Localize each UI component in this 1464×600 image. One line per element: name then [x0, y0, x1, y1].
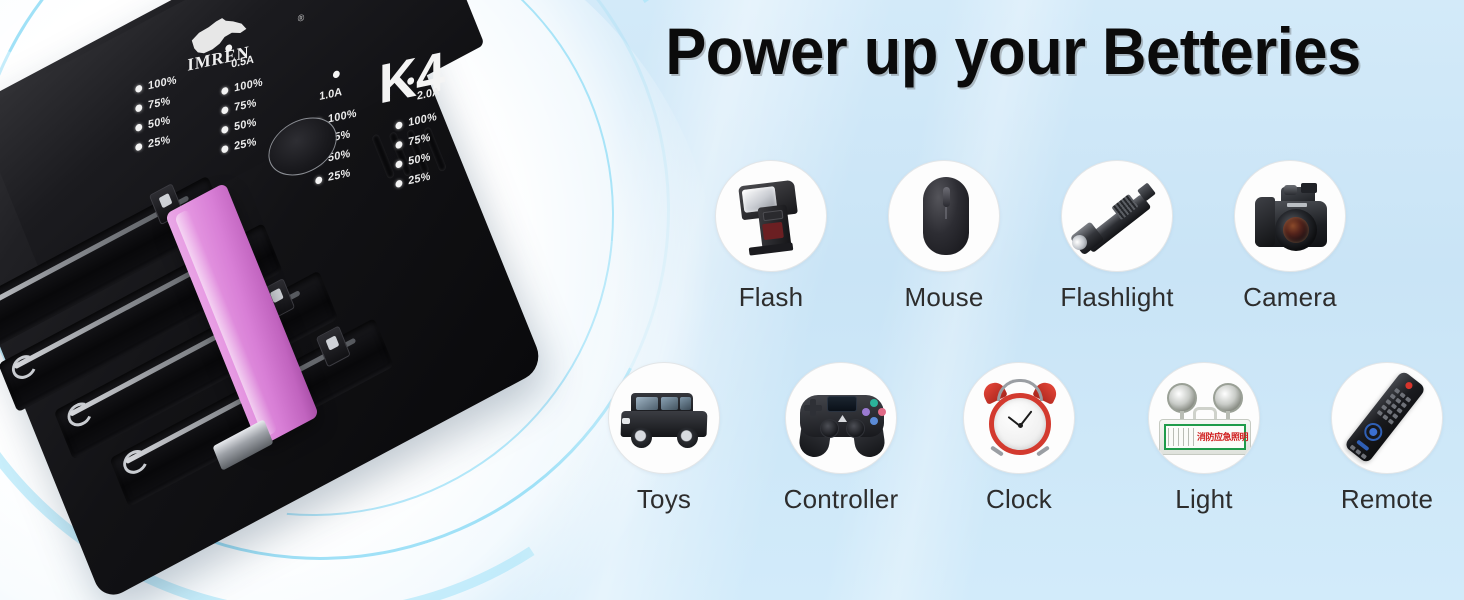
device-label: Remote	[1321, 484, 1453, 515]
device-label: Clock	[953, 484, 1085, 515]
device-label: Flashlight	[1051, 282, 1183, 313]
led-label: 50%	[234, 116, 256, 133]
led-row: 25%	[315, 166, 356, 187]
slot-contact	[316, 325, 351, 367]
emergency-light-panel-text: 消防应急照明	[1197, 430, 1243, 443]
toy-car-icon	[608, 362, 720, 474]
device-item-camera[interactable]: Camera	[1224, 160, 1356, 313]
led-dot	[221, 144, 228, 153]
emergency-light-icon: 消防应急照明	[1148, 362, 1260, 474]
camera-flash-icon	[715, 160, 827, 272]
led-label: 25%	[148, 134, 170, 151]
led-dot	[315, 176, 322, 185]
led-dot	[396, 179, 403, 188]
device-label: Camera	[1224, 282, 1356, 313]
led-label: 25%	[408, 170, 430, 187]
product-photo: IMREN ® K4 0.5A 1.0A 2.0A 100% 75% 50% 2…	[0, 0, 630, 600]
device-label: Controller	[775, 484, 907, 515]
compatible-devices-grid: Flash Mouse Flashlight Camera	[600, 150, 1464, 550]
led-row: 100%	[396, 111, 437, 132]
current-label-1-0a: 1.0A	[319, 86, 342, 103]
led-label: 75%	[148, 95, 170, 112]
device-item-remote[interactable]: Remote	[1321, 362, 1453, 515]
alarm-clock-icon	[963, 362, 1075, 474]
led-row: 25%	[221, 134, 262, 155]
led-row: 50%	[396, 150, 437, 171]
led-indicator-group-4: 100% 75% 50% 25%	[396, 111, 437, 198]
led-row: 100%	[221, 76, 262, 97]
led-dot	[221, 125, 228, 134]
device-label: Flash	[705, 282, 837, 313]
device-item-toys[interactable]: Toys	[598, 362, 730, 515]
device-item-controller[interactable]: Controller	[775, 362, 907, 515]
device-item-mouse[interactable]: Mouse	[878, 160, 1010, 313]
registered-mark: ®	[298, 12, 304, 24]
device-label: Mouse	[878, 282, 1010, 313]
current-led-1-0a	[333, 70, 340, 79]
led-dot	[396, 140, 403, 149]
game-controller-icon	[785, 362, 897, 474]
device-label: Toys	[598, 484, 730, 515]
led-row: 25%	[396, 169, 437, 190]
led-label: 75%	[408, 132, 430, 149]
led-label: 100%	[328, 107, 357, 125]
led-indicator-group-1: 100% 75% 50% 25%	[135, 74, 176, 161]
led-label: 100%	[408, 111, 437, 129]
led-dot	[135, 103, 142, 112]
led-dot	[135, 123, 142, 132]
led-label: 25%	[328, 167, 350, 184]
led-indicator-group-2: 100% 75% 50% 25%	[221, 76, 262, 163]
led-row: 25%	[135, 132, 176, 153]
device-item-flashlight[interactable]: Flashlight	[1051, 160, 1183, 313]
page-title: Power up your Betteries	[628, 14, 1398, 88]
led-label: 50%	[148, 114, 170, 131]
led-row: 50%	[135, 113, 176, 134]
led-dot	[396, 121, 403, 130]
led-dot	[135, 84, 142, 93]
led-label: 25%	[234, 136, 256, 153]
device-item-light[interactable]: 消防应急照明 Light	[1138, 362, 1270, 515]
led-dot	[221, 86, 228, 95]
led-row: 75%	[396, 130, 437, 151]
led-dot	[135, 142, 142, 151]
led-row: 50%	[221, 115, 262, 136]
tv-remote-icon	[1331, 362, 1443, 474]
led-label: 75%	[234, 97, 256, 114]
led-dot	[396, 160, 403, 169]
led-label: 100%	[234, 76, 263, 94]
led-row: 75%	[135, 93, 176, 114]
led-row: 75%	[221, 96, 262, 117]
device-item-clock[interactable]: Clock	[953, 362, 1085, 515]
device-item-flash[interactable]: Flash	[705, 160, 837, 313]
computer-mouse-icon	[888, 160, 1000, 272]
led-label: 50%	[408, 151, 430, 168]
led-dot	[221, 106, 228, 115]
device-label: Light	[1138, 484, 1270, 515]
flashlight-icon	[1061, 160, 1173, 272]
camera-icon	[1234, 160, 1346, 272]
